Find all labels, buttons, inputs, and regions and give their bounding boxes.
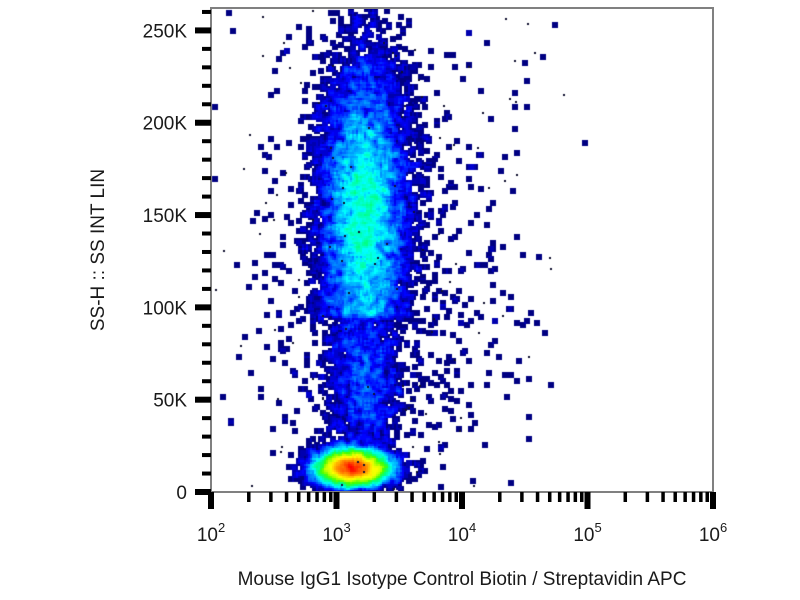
flow-cytometry-figure: 050K100K150K200K250K 102103104105106 SS-… bbox=[0, 0, 800, 600]
scatter-plot-canvas bbox=[0, 0, 800, 600]
